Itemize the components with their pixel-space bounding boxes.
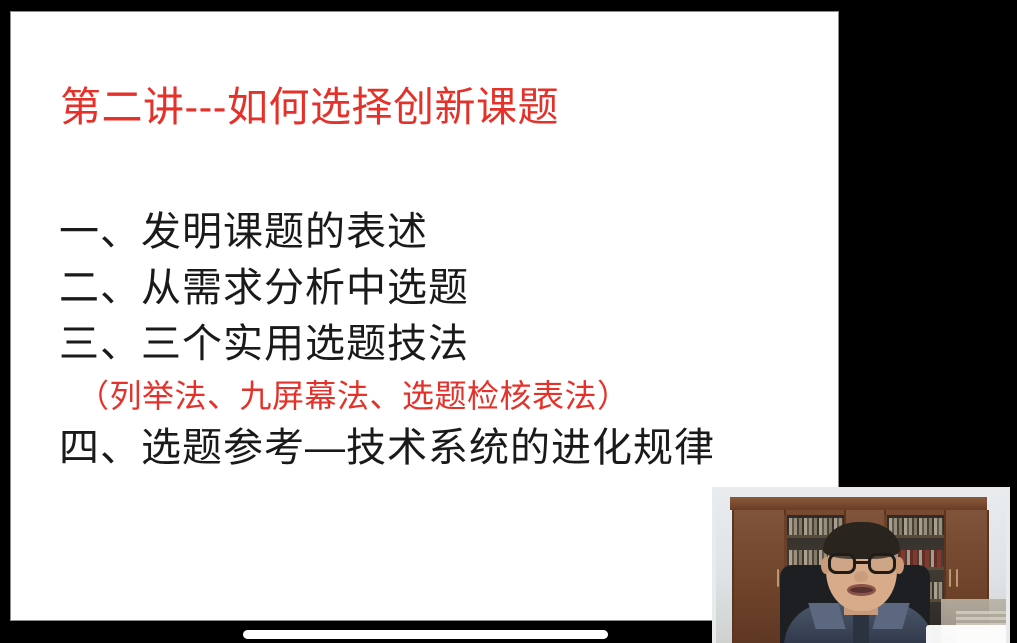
slide-title: 第二讲---如何选择创新课题	[60, 84, 559, 131]
video-books	[889, 518, 943, 535]
video-bookcase-cornice	[730, 497, 987, 510]
outline-item-4-label: 选题参考—技术系统的进化规律	[141, 420, 715, 476]
progress-thumb[interactable]	[243, 630, 608, 639]
outline-item-3-label: 三个实用选题技法	[141, 316, 469, 372]
screen-root: 第二讲---如何选择创新课题 一、发明课题的表述 二、从需求分析中选题 三、三个…	[0, 0, 1017, 643]
outline-item-4-number: 四、	[59, 420, 141, 476]
outline-item-3-sub: （列举法、九屏幕法、选题检核表法）	[11, 372, 838, 420]
outline-item-2: 二、从需求分析中选题	[11, 260, 838, 316]
outline-item-1-label: 发明课题的表述	[141, 204, 428, 260]
glasses-lens-right	[868, 553, 896, 574]
outline-item-3-number: 三、	[59, 316, 141, 372]
video-overlay-badge	[926, 625, 1006, 643]
outline-item-1-number: 一、	[59, 204, 141, 260]
outline-item-2-label: 从需求分析中选题	[141, 260, 469, 316]
outline-item-1: 一、发明课题的表述	[11, 204, 838, 260]
presenter-video-overlay[interactable]	[712, 487, 1010, 643]
video-bookcase-handle-right2	[956, 569, 958, 587]
video-bookcase-handle-right	[949, 569, 951, 587]
outline-item-4: 四、选题参考—技术系统的进化规律	[11, 420, 838, 476]
outline-item-3: 三、三个实用选题技法	[11, 316, 838, 372]
video-bookcase-handle-left	[777, 569, 779, 587]
video-presenter-mouth-inner	[850, 587, 873, 593]
glasses-lens-left	[828, 553, 856, 574]
presenter-video-feed[interactable]	[716, 491, 1006, 643]
glasses-icon	[827, 553, 897, 574]
video-presenter-shirt-placket	[853, 615, 869, 643]
slide-outline-list: 一、发明课题的表述 二、从需求分析中选题 三、三个实用选题技法 （列举法、九屏幕…	[11, 204, 838, 476]
outline-item-2-number: 二、	[59, 260, 141, 316]
glasses-bridge	[856, 561, 868, 564]
outline-item-3-sub-label: （列举法、九屏幕法、选题检核表法）	[77, 372, 630, 420]
